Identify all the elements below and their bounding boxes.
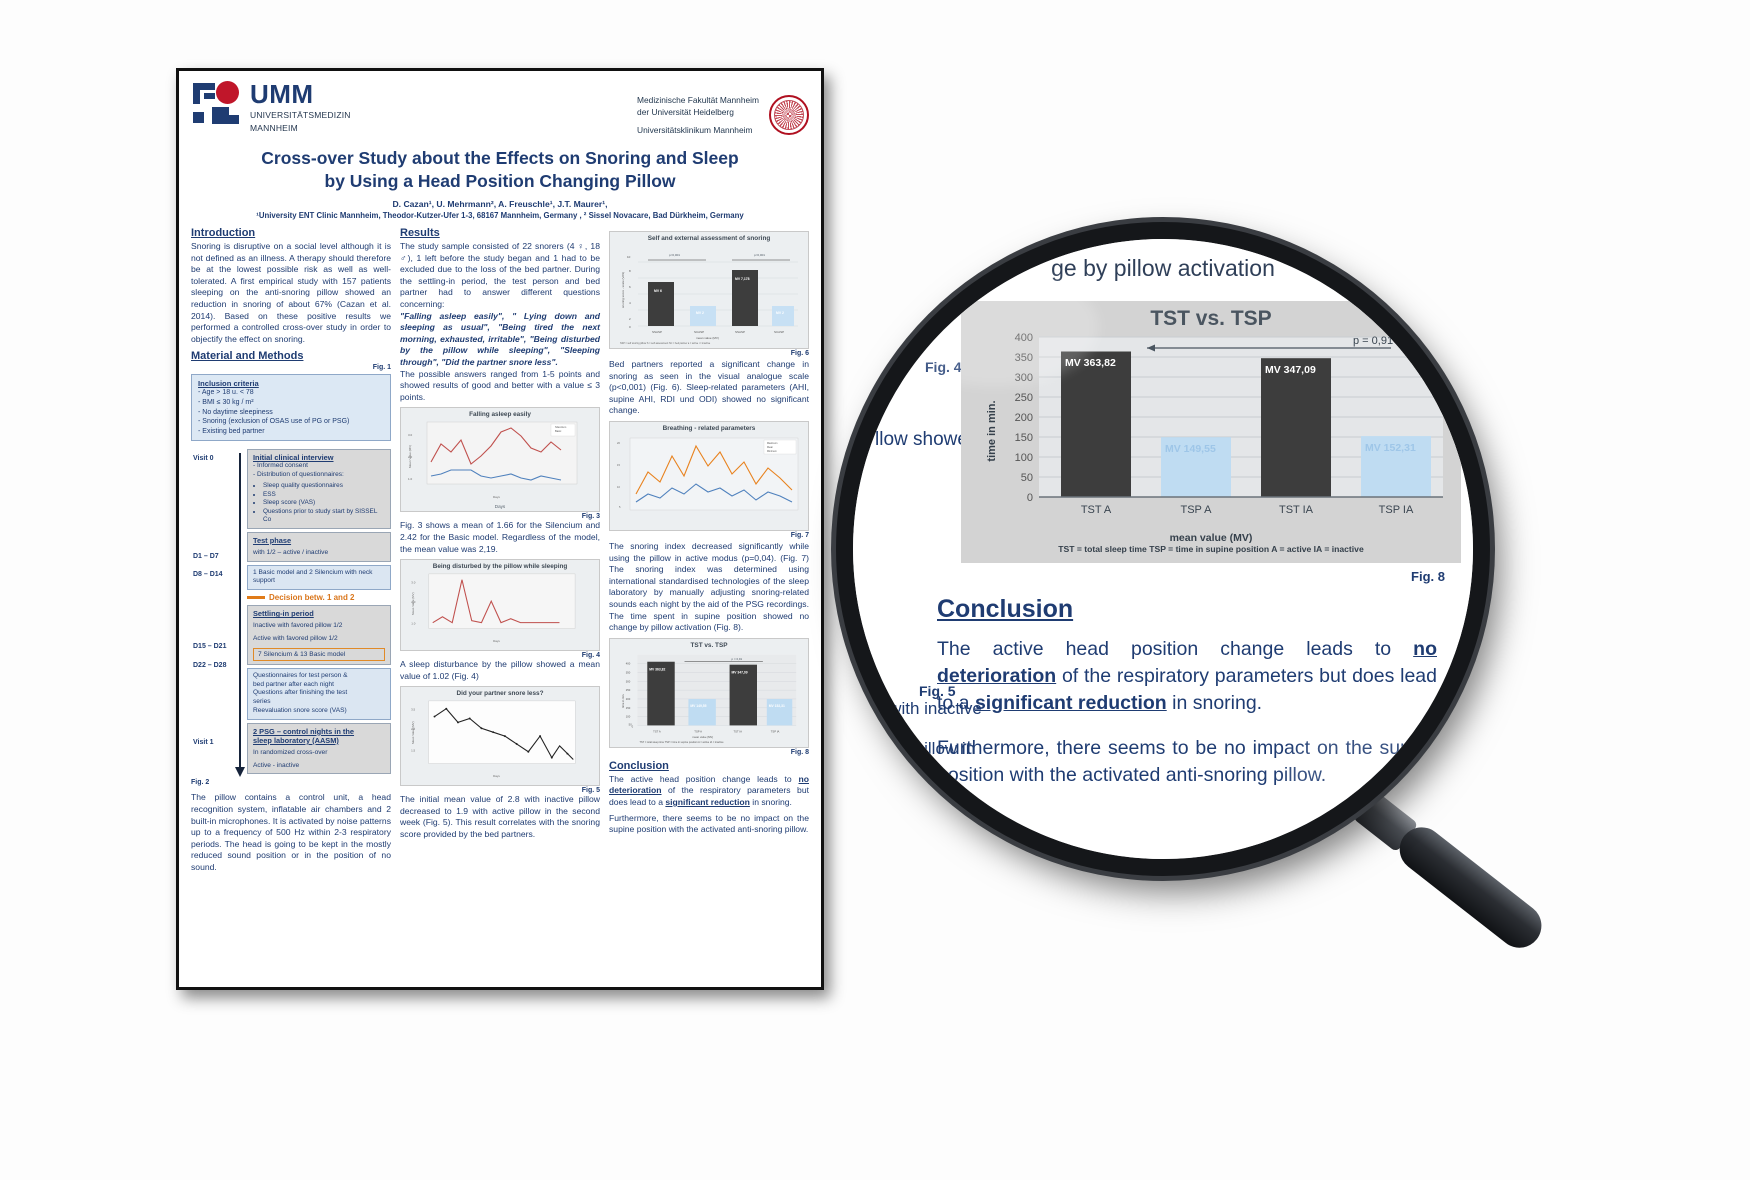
fig6-label: Fig. 6 [609, 350, 809, 357]
inclusion-item: - Snoring (exclusion of OSAS use of PG o… [198, 417, 384, 427]
svg-text:200: 200 [626, 697, 631, 701]
flow-box4-title: Settling-in period [253, 609, 385, 618]
svg-text:p<0,001: p<0,001 [754, 253, 765, 257]
flowchart-timeline-labels: Visit 0 D1 – D7 D8 – D14 D15 – D21 D22 –… [191, 449, 235, 777]
column-middle: Results The study sample consisted of 22… [400, 227, 600, 874]
fig7-label: Fig. 7 [609, 532, 809, 539]
umm-logo: UMM UNIVERSITÄTSMEDIZIN MANNHEIM [191, 81, 351, 133]
conclusion-part-c: in snoring. [750, 797, 792, 807]
magnifier-lens[interactable]: ge by pillow activation Fig. 4 llow show… [836, 222, 1490, 876]
svg-text:350: 350 [1015, 352, 1033, 364]
flow-box-initial-interview: Initial clinical interview - Informed co… [247, 449, 391, 529]
svg-text:Days: Days [493, 774, 500, 778]
decision-marker-icon [247, 596, 265, 599]
svg-text:100: 100 [626, 714, 631, 718]
svg-text:MV 2: MV 2 [696, 311, 704, 315]
column-left: Introduction Snoring is disruptive on a … [191, 227, 391, 874]
svg-text:MV 347,09: MV 347,09 [732, 670, 748, 674]
flow-box1-title: Initial clinical interview [253, 453, 385, 462]
logo-subtitle-2: MANNHEIM [250, 123, 351, 133]
flow-box6-line2: Active - inactive [253, 762, 385, 771]
flow-box-questionnaires: Questionnaires for test person & bed par… [247, 668, 391, 720]
svg-text:Mean: Mean [767, 446, 774, 449]
text-pillow-description: The pillow contains a control unit, a he… [191, 792, 391, 873]
inclusion-item: - BMI ≤ 30 kg / m² [198, 398, 384, 408]
bar-label-tst-ia: MV 347,09 [1265, 364, 1316, 376]
magnified-conclusion-p1: The active head position change leads to… [937, 636, 1437, 717]
chart-fig3-xlabel: Days [404, 504, 596, 509]
flow-box5-line: series [253, 698, 385, 707]
heading-material-methods: Material and Methods [191, 350, 391, 362]
text-right-1: Bed partners reported a significant chan… [609, 359, 809, 417]
flow-box-settling-in: Settling-in period Inactive with favored… [247, 605, 391, 665]
fig1-label: Fig. 1 [191, 364, 391, 371]
fig5-label: Fig. 5 [400, 787, 600, 794]
svg-text:1.5: 1.5 [411, 749, 415, 753]
decision-label: Decision betw. 1 and 2 [269, 593, 355, 602]
mg-concl-u2: significant reduction [975, 692, 1167, 714]
svg-text:p<0,001: p<0,001 [669, 253, 680, 257]
chart-fig6-plot: MV 6MV 2 MV 7,178MV 2 p<0,001p<0,001 108… [613, 242, 805, 346]
svg-text:Mean Value (MV): Mean Value (MV) [411, 722, 415, 745]
magnified-fig8-label: Fig. 8 [1411, 569, 1445, 584]
svg-text:Minimum: Minimum [767, 450, 777, 453]
heading-results: Results [400, 227, 600, 239]
svg-text:SSASP: SSASP [735, 330, 745, 334]
flow-time-visit0: Visit 0 [193, 455, 214, 462]
study-flowchart: Visit 0 D1 – D7 D8 – D14 D15 – D21 D22 –… [191, 449, 391, 777]
svg-text:3.0: 3.0 [411, 581, 415, 585]
flow-box-models: 1 Basic model and 2 Silencium with neck … [247, 565, 391, 591]
svg-text:MV 2: MV 2 [776, 311, 784, 315]
svg-text:0: 0 [629, 325, 631, 329]
chart-fig5-title: Did your partner snore less? [404, 690, 596, 697]
flow-box4-highlight: 7 Silencium & 13 Basic model [253, 648, 385, 661]
faculty-line-2: der Universität Heidelberg [637, 107, 759, 119]
logo-subtitle-1: UNIVERSITÄTSMEDIZIN [250, 110, 351, 120]
flow-box6-title1: 2 PSG – control nights in the [253, 727, 385, 736]
svg-text:250: 250 [1015, 392, 1033, 404]
xtick-tst-a: TST A [1081, 504, 1112, 516]
flow-time-d22-d28: D22 – D28 [193, 662, 226, 669]
svg-text:TST A: TST A [653, 729, 661, 733]
chart-fig3-title: Falling asleep easily [404, 411, 596, 418]
flow-box5-line: bed partner after each night [253, 681, 385, 690]
flow-decision: Decision betw. 1 and 2 [247, 593, 391, 602]
conclusion-part-a: The active head position change leads to [609, 774, 799, 784]
svg-text:Days: Days [493, 639, 500, 643]
authors: D. Cazan¹, U. Mehrmann², A. Freuschle¹, … [191, 199, 809, 209]
svg-text:150: 150 [626, 705, 631, 709]
svg-text:300: 300 [626, 679, 631, 683]
page-title: Cross-over Study about the Effects on Sn… [191, 147, 809, 193]
svg-text:4: 4 [629, 301, 631, 305]
flow-box1-item: - Informed consent [253, 462, 385, 471]
svg-text:350: 350 [626, 670, 631, 674]
svg-text:8: 8 [629, 269, 631, 273]
flow-box2-text: with 1/2 – active / inactive [253, 549, 385, 558]
svg-text:MV 7,178: MV 7,178 [735, 277, 750, 281]
flow-box-test-phase: Test phase with 1/2 – active / inactive [247, 532, 391, 562]
magnified-chart-footnote: TST = total sleep time TSP = time in sup… [961, 544, 1461, 554]
svg-text:3.5: 3.5 [411, 708, 415, 712]
bar-label-tsp-a: MV 149,55 [1165, 443, 1216, 455]
svg-text:MV 363,82: MV 363,82 [649, 667, 665, 671]
chart-fig4-disturbance: Being disturbed by the pillow while slee… [400, 559, 600, 651]
svg-text:time in min.: time in min. [621, 693, 625, 707]
flow-time-d15-d21: D15 – D21 [193, 643, 226, 650]
chart-fig3-falling-asleep: Falling asleep easily 3.02.01.0 Mean Val… [400, 407, 600, 512]
flow-box1-bullet: ESS [263, 491, 385, 500]
magnified-text-fragment-4: ovided by [875, 819, 948, 839]
flow-box1-bullet: Sleep quality questionnaires [263, 482, 385, 491]
svg-text:2: 2 [629, 317, 631, 321]
flow-time-visit1: Visit 1 [193, 739, 214, 746]
svg-text:SCASP: SCASP [774, 330, 784, 334]
svg-text:5: 5 [619, 505, 621, 509]
svg-text:SCASP: SCASP [694, 330, 704, 334]
text-results-1: The study sample consisted of 22 snorers… [400, 241, 600, 311]
bar-tst-a [1061, 352, 1131, 498]
text-conclusion-2: Furthermore, there seems to be no impact… [609, 813, 809, 836]
magnified-conclusion: Conclusion The active head position chan… [937, 595, 1437, 807]
svg-text:SSASP: SSASP [652, 330, 662, 334]
chart-fig7-title: Breathing - related parameters [613, 425, 805, 432]
chart-fig5-plot: 3.52.51.5 Mean Value (MV) Days [404, 697, 596, 783]
chart-fig8-title: TST vs. TSP [613, 642, 805, 649]
inclusion-item: - Existing bed partner [198, 427, 384, 437]
faculty-line-3: Universitätsklinikum Mannheim [637, 125, 759, 137]
magnified-partial-heading: ge by pillow activation [853, 255, 1473, 282]
flow-box5-line: Questionnaires for test person & [253, 672, 385, 681]
bar-label-tst-a: MV 363,82 [1065, 357, 1116, 369]
fig4-label: Fig. 4 [400, 652, 600, 659]
flow-box5-line: Reevaluation snore score (VAS) [253, 707, 385, 716]
magnified-fig4-label: Fig. 4 [925, 359, 962, 375]
svg-text:300: 300 [1015, 372, 1033, 384]
faculty-line-1: Medizinische Fakultät Mannheim [637, 95, 759, 107]
svg-text:150: 150 [1015, 432, 1033, 444]
chart-fig8-footnote: TST = total sleep time TSP = time in sup… [639, 741, 724, 744]
chart-fig4-title: Being disturbed by the pillow while slee… [404, 563, 596, 570]
text-results-2: The possible answers ranged from 1-5 poi… [400, 369, 600, 404]
logo-title: UMM [250, 81, 351, 107]
svg-text:Silencium: Silencium [555, 425, 566, 429]
svg-text:p = 0,91: p = 0,91 [732, 656, 743, 660]
text-fig4: A sleep disturbance by the pillow showed… [400, 659, 600, 682]
svg-text:0: 0 [632, 724, 634, 728]
flow-box1-item: - Distribution of questionnaires: [253, 471, 385, 480]
svg-text:mean value (MV): mean value (MV) [692, 735, 713, 739]
inclusion-criteria-box: Inclusion criteria - Age > 18 u. < 78 - … [191, 374, 391, 441]
svg-text:1.0: 1.0 [408, 477, 413, 481]
svg-text:TSP IA: TSP IA [771, 729, 780, 733]
xtick-tsp-ia: TSP IA [1379, 504, 1414, 516]
xtick-tst-ia: TST IA [1279, 504, 1314, 516]
fig3-label: Fig. 3 [400, 513, 600, 520]
svg-text:Mean Value (MV): Mean Value (MV) [408, 445, 412, 468]
conclusion-underline-2: significant reduction [665, 797, 750, 807]
chart-fig8-plot: MV 363,82MV 149,55 MV 347,09MV 152,31 p … [613, 649, 805, 745]
flow-box-psg: 2 PSG – control nights in the sleep labo… [247, 723, 391, 775]
magnified-conclusion-heading: Conclusion [937, 595, 1437, 624]
p-value-annotation: p = 0,91 [1353, 335, 1393, 347]
heading-introduction: Introduction [191, 227, 391, 239]
text-introduction: Snoring is disruptive on a social level … [191, 241, 391, 345]
text-fig3: Fig. 3 shows a mean of 1.66 for the Sile… [400, 520, 600, 555]
chart-fig7-plot: 2015105 MaximumMeanMinimum [613, 432, 805, 528]
inclusion-title: Inclusion criteria [198, 379, 384, 388]
svg-text:50: 50 [1021, 472, 1033, 484]
svg-text:250: 250 [626, 688, 631, 692]
text-fig5: The initial mean value of 2.8 with inact… [400, 794, 600, 840]
text-conclusion-1: The active head position change leads to… [609, 774, 809, 809]
svg-text:15: 15 [617, 463, 620, 467]
magnified-content: ge by pillow activation Fig. 4 llow show… [853, 239, 1473, 859]
bar-tst-ia [1261, 358, 1331, 497]
svg-text:10: 10 [617, 485, 620, 489]
svg-text:MV 152,31: MV 152,31 [769, 704, 785, 708]
chart-fig7-breathing: Breathing - related parameters 2015105 M… [609, 421, 809, 531]
magnified-chart-xlabel: mean value (MV) [961, 532, 1461, 544]
svg-text:TSP A: TSP A [694, 729, 702, 733]
flow-box2-title: Test phase [253, 536, 385, 545]
svg-text:Mean Value (MV): Mean Value (MV) [411, 593, 415, 615]
magnified-chart-fig8: TST vs. TSP MV 363,82 MV 149,55 [961, 301, 1461, 563]
column-right: Self and external assessment of snoring … [609, 227, 809, 874]
svg-text:0: 0 [1027, 492, 1033, 504]
heading-conclusion: Conclusion [609, 760, 809, 772]
mg-concl-c: in snoring. [1167, 692, 1262, 714]
flow-box4-line2: Active with favored pillow 1/2 [253, 635, 385, 644]
svg-text:MV 149,55: MV 149,55 [690, 704, 706, 708]
flow-box4-line1: Inactive with favored pillow 1/2 [253, 622, 385, 631]
chart-fig3-plot: 3.02.01.0 Mean Value (MV) Days Silencium… [404, 418, 596, 504]
flow-box6-title2: sleep laboratory (AASM) [253, 736, 385, 745]
flowchart-arrow-icon [235, 449, 247, 777]
svg-text:100: 100 [1015, 452, 1033, 464]
umm-logo-mark-icon [191, 81, 247, 129]
svg-text:3.0: 3.0 [408, 433, 413, 437]
svg-text:400: 400 [626, 661, 631, 665]
faculty-block: Medizinische Fakultät Mannheim der Unive… [637, 95, 809, 137]
chart-fig4-plot: 3.02.01.0 Mean Value (MV) Days [404, 570, 596, 648]
flow-box6-line1: In randomized cross-over [253, 749, 385, 758]
magnified-chart-ylabel: time in min. [986, 400, 998, 461]
magnified-chart-plot: MV 363,82 MV 149,55 MV 347,09 MV 152,31 … [961, 331, 1461, 527]
fig8-label: Fig. 8 [609, 749, 809, 756]
poster-content: UMM UNIVERSITÄTSMEDIZIN MANNHEIM Medizin… [179, 71, 821, 987]
inclusion-item: - Age > 18 u. < 78 [198, 388, 384, 398]
flow-time-d8-d14: D8 – D14 [193, 571, 223, 578]
xtick-tsp-a: TSP A [1181, 504, 1213, 516]
svg-text:1.0: 1.0 [411, 622, 415, 626]
svg-text:MV 6: MV 6 [654, 289, 662, 293]
bar-label-tsp-ia: MV 152,31 [1365, 442, 1416, 454]
text-right-2: The snoring index decreased significantl… [609, 541, 809, 634]
chart-fig6-footnote: SSP = self scoring pillow S = self asses… [620, 342, 711, 345]
poster-sheet: UMM UNIVERSITÄTSMEDIZIN MANNHEIM Medizin… [176, 68, 824, 990]
svg-text:20: 20 [617, 441, 620, 445]
fig2-label: Fig. 2 [191, 779, 391, 786]
text-results-questions: "Falling asleep easily", " Lying down an… [400, 311, 600, 369]
svg-text:snoring score - scale (VAS): snoring score - scale (VAS) [621, 272, 625, 308]
page-title-line-2: by Using a Head Position Changing Pillow [191, 170, 809, 193]
university-seal-icon [769, 95, 809, 135]
chart-fig6-title: Self and external assessment of snoring [613, 235, 805, 242]
svg-text:Maximum: Maximum [767, 442, 777, 445]
chart-fig5-snore-score: Did your partner snore less? 3.52.51.5 M… [400, 686, 600, 786]
flow-box5-line: Questions after finishing the test [253, 689, 385, 698]
inclusion-item: - No daytime sleepiness [198, 408, 384, 418]
chart-fig8-tst-tsp-small: TST vs. TSP MV 363,82MV 149,55 [609, 638, 809, 748]
flow-time-d1-d7: D1 – D7 [193, 553, 219, 560]
svg-text:TST IA: TST IA [733, 729, 742, 733]
flow-box1-bullet: Questions prior to study start by SISSEL… [263, 508, 385, 525]
page-title-line-1: Cross-over Study about the Effects on Sn… [191, 147, 809, 170]
magnified-conclusion-p2: Furthermore, there seems to be no impact… [937, 735, 1437, 789]
svg-text:Days: Days [493, 495, 500, 499]
flow-box3-text: 1 Basic model and 2 Silencium with neck … [253, 569, 385, 587]
affiliation: ¹University ENT Clinic Mannheim, Theodor… [191, 211, 809, 220]
chart-fig6-self-external: Self and external assessment of snoring … [609, 231, 809, 349]
svg-text:6: 6 [629, 285, 631, 289]
poster-header: UMM UNIVERSITÄTSMEDIZIN MANNHEIM Medizin… [191, 81, 809, 143]
svg-text:400: 400 [1015, 332, 1033, 344]
mg-concl-a: The active head position change leads to [937, 638, 1413, 660]
magnified-chart-title: TST vs. TSP [961, 301, 1461, 331]
flow-box1-bullet: Sleep score (VAS) [263, 499, 385, 508]
svg-text:Basic: Basic [555, 429, 562, 433]
svg-text:200: 200 [1015, 412, 1033, 424]
svg-text:10: 10 [627, 255, 631, 259]
svg-text:mean value (MV): mean value (MV) [696, 336, 719, 340]
